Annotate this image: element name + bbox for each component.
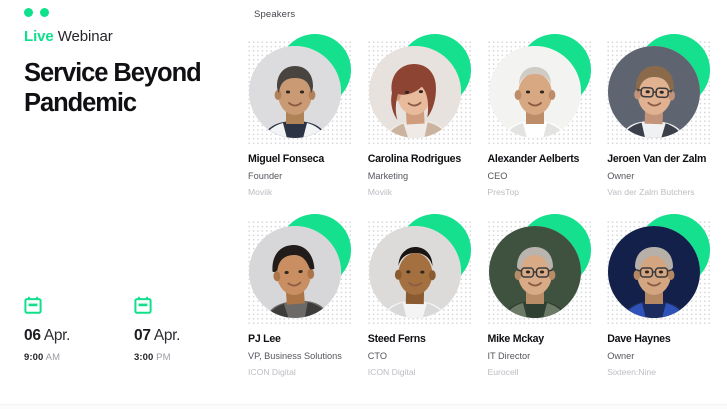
date-label-1: 06 Apr. bbox=[24, 327, 96, 345]
left-info-panel: Live Webinar Service Beyond Pandemic 06 … bbox=[0, 0, 225, 409]
speaker-card[interactable]: Dave HaynesOwnerSixteen:Nine bbox=[607, 218, 727, 398]
speaker-role: Founder bbox=[248, 171, 368, 181]
speaker-role: VP, Business Solutions bbox=[248, 351, 368, 361]
speakers-grid: Miguel FonsecaFounderMoviik Carolina Rod… bbox=[248, 38, 727, 398]
time-label-2: 3:00 PM bbox=[134, 352, 206, 363]
date-day-2: 07 bbox=[134, 327, 151, 344]
photo-steed-ferns bbox=[369, 226, 461, 318]
avatar bbox=[249, 38, 355, 144]
speaker-card[interactable]: Steed FernsCTOICON Digital bbox=[368, 218, 488, 398]
speaker-company: ICON Digital bbox=[368, 367, 488, 377]
time-meridiem-1: AM bbox=[46, 352, 60, 363]
speaker-role: CTO bbox=[368, 351, 488, 361]
photo-jeroen-van-der-zalm bbox=[608, 46, 700, 138]
webinar-promo-slide: Live Webinar Service Beyond Pandemic 06 … bbox=[0, 0, 727, 409]
speaker-company: PresTop bbox=[488, 187, 608, 197]
speaker-name: Dave Haynes bbox=[607, 333, 727, 345]
speaker-card[interactable]: Mike MckayIT DirectorEurocell bbox=[488, 218, 608, 398]
avatar bbox=[249, 218, 355, 324]
time-value-2: 3:00 bbox=[134, 352, 153, 363]
date-month-2: Apr. bbox=[154, 327, 180, 344]
avatar bbox=[489, 38, 595, 144]
time-label-1: 9:00 AM bbox=[24, 352, 96, 363]
speaker-name: Mike Mckay bbox=[488, 333, 608, 345]
speaker-company: ICON Digital bbox=[248, 367, 368, 377]
speaker-role: Owner bbox=[607, 171, 727, 181]
two-green-dots-icon bbox=[24, 8, 49, 17]
date-day-1: 06 bbox=[24, 327, 41, 344]
speaker-company: Moviik bbox=[368, 187, 488, 197]
date-label-2: 07 Apr. bbox=[134, 327, 206, 345]
speaker-role: CEO bbox=[488, 171, 608, 181]
page-title: Service Beyond Pandemic bbox=[24, 58, 224, 118]
date-time-group: 06 Apr. 9:00 AM 07 Apr. bbox=[24, 296, 206, 363]
speaker-name: Carolina Rodrigues bbox=[368, 153, 488, 165]
speaker-name: Alexander Aelberts bbox=[488, 153, 608, 165]
calendar-icon bbox=[134, 296, 152, 314]
date-block-1: 06 Apr. 9:00 AM bbox=[24, 296, 96, 363]
avatar bbox=[608, 218, 714, 324]
speaker-card[interactable]: Alexander AelbertsCEOPresTop bbox=[488, 38, 608, 218]
logo-dot-2 bbox=[40, 8, 49, 17]
speaker-company: Moviik bbox=[248, 187, 368, 197]
photo-pj-lee bbox=[249, 226, 341, 318]
time-value-1: 9:00 bbox=[24, 352, 43, 363]
speaker-card[interactable]: PJ LeeVP, Business SolutionsICON Digital bbox=[248, 218, 368, 398]
bottom-divider bbox=[0, 404, 727, 409]
brand-title: Live Webinar bbox=[24, 28, 113, 45]
speaker-card[interactable]: Jeroen Van der ZalmOwnerVan der Zalm But… bbox=[607, 38, 727, 218]
photo-dave-haynes bbox=[608, 226, 700, 318]
brand-webinar-label: Webinar bbox=[58, 28, 113, 45]
avatar bbox=[369, 218, 475, 324]
time-meridiem-2: PM bbox=[156, 352, 170, 363]
speaker-card[interactable]: Miguel FonsecaFounderMoviik bbox=[248, 38, 368, 218]
speaker-role: Marketing bbox=[368, 171, 488, 181]
logo-dot-1 bbox=[24, 8, 33, 17]
avatar bbox=[369, 38, 475, 144]
photo-carolina-rodrigues bbox=[369, 46, 461, 138]
date-block-2: 07 Apr. 3:00 PM bbox=[134, 296, 206, 363]
avatar bbox=[489, 218, 595, 324]
speaker-name: Jeroen Van der Zalm bbox=[607, 153, 727, 165]
avatar bbox=[608, 38, 714, 144]
brand-live-label: Live bbox=[24, 28, 54, 45]
speaker-company: Van der Zalm Butchers bbox=[607, 187, 727, 197]
speaker-name: Miguel Fonseca bbox=[248, 153, 368, 165]
speaker-company: Eurocell bbox=[488, 367, 608, 377]
speaker-card[interactable]: Carolina RodriguesMarketingMoviik bbox=[368, 38, 488, 218]
speaker-company: Sixteen:Nine bbox=[607, 367, 727, 377]
speaker-name: Steed Ferns bbox=[368, 333, 488, 345]
speakers-section-label: Speakers bbox=[254, 9, 295, 20]
speaker-name: PJ Lee bbox=[248, 333, 368, 345]
photo-mike-mckay bbox=[489, 226, 581, 318]
speaker-role: Owner bbox=[607, 351, 727, 361]
calendar-icon bbox=[24, 296, 42, 314]
photo-miguel-fonseca bbox=[249, 46, 341, 138]
photo-alexander-aelberts bbox=[489, 46, 581, 138]
speaker-role: IT Director bbox=[488, 351, 608, 361]
date-month-1: Apr. bbox=[44, 327, 70, 344]
